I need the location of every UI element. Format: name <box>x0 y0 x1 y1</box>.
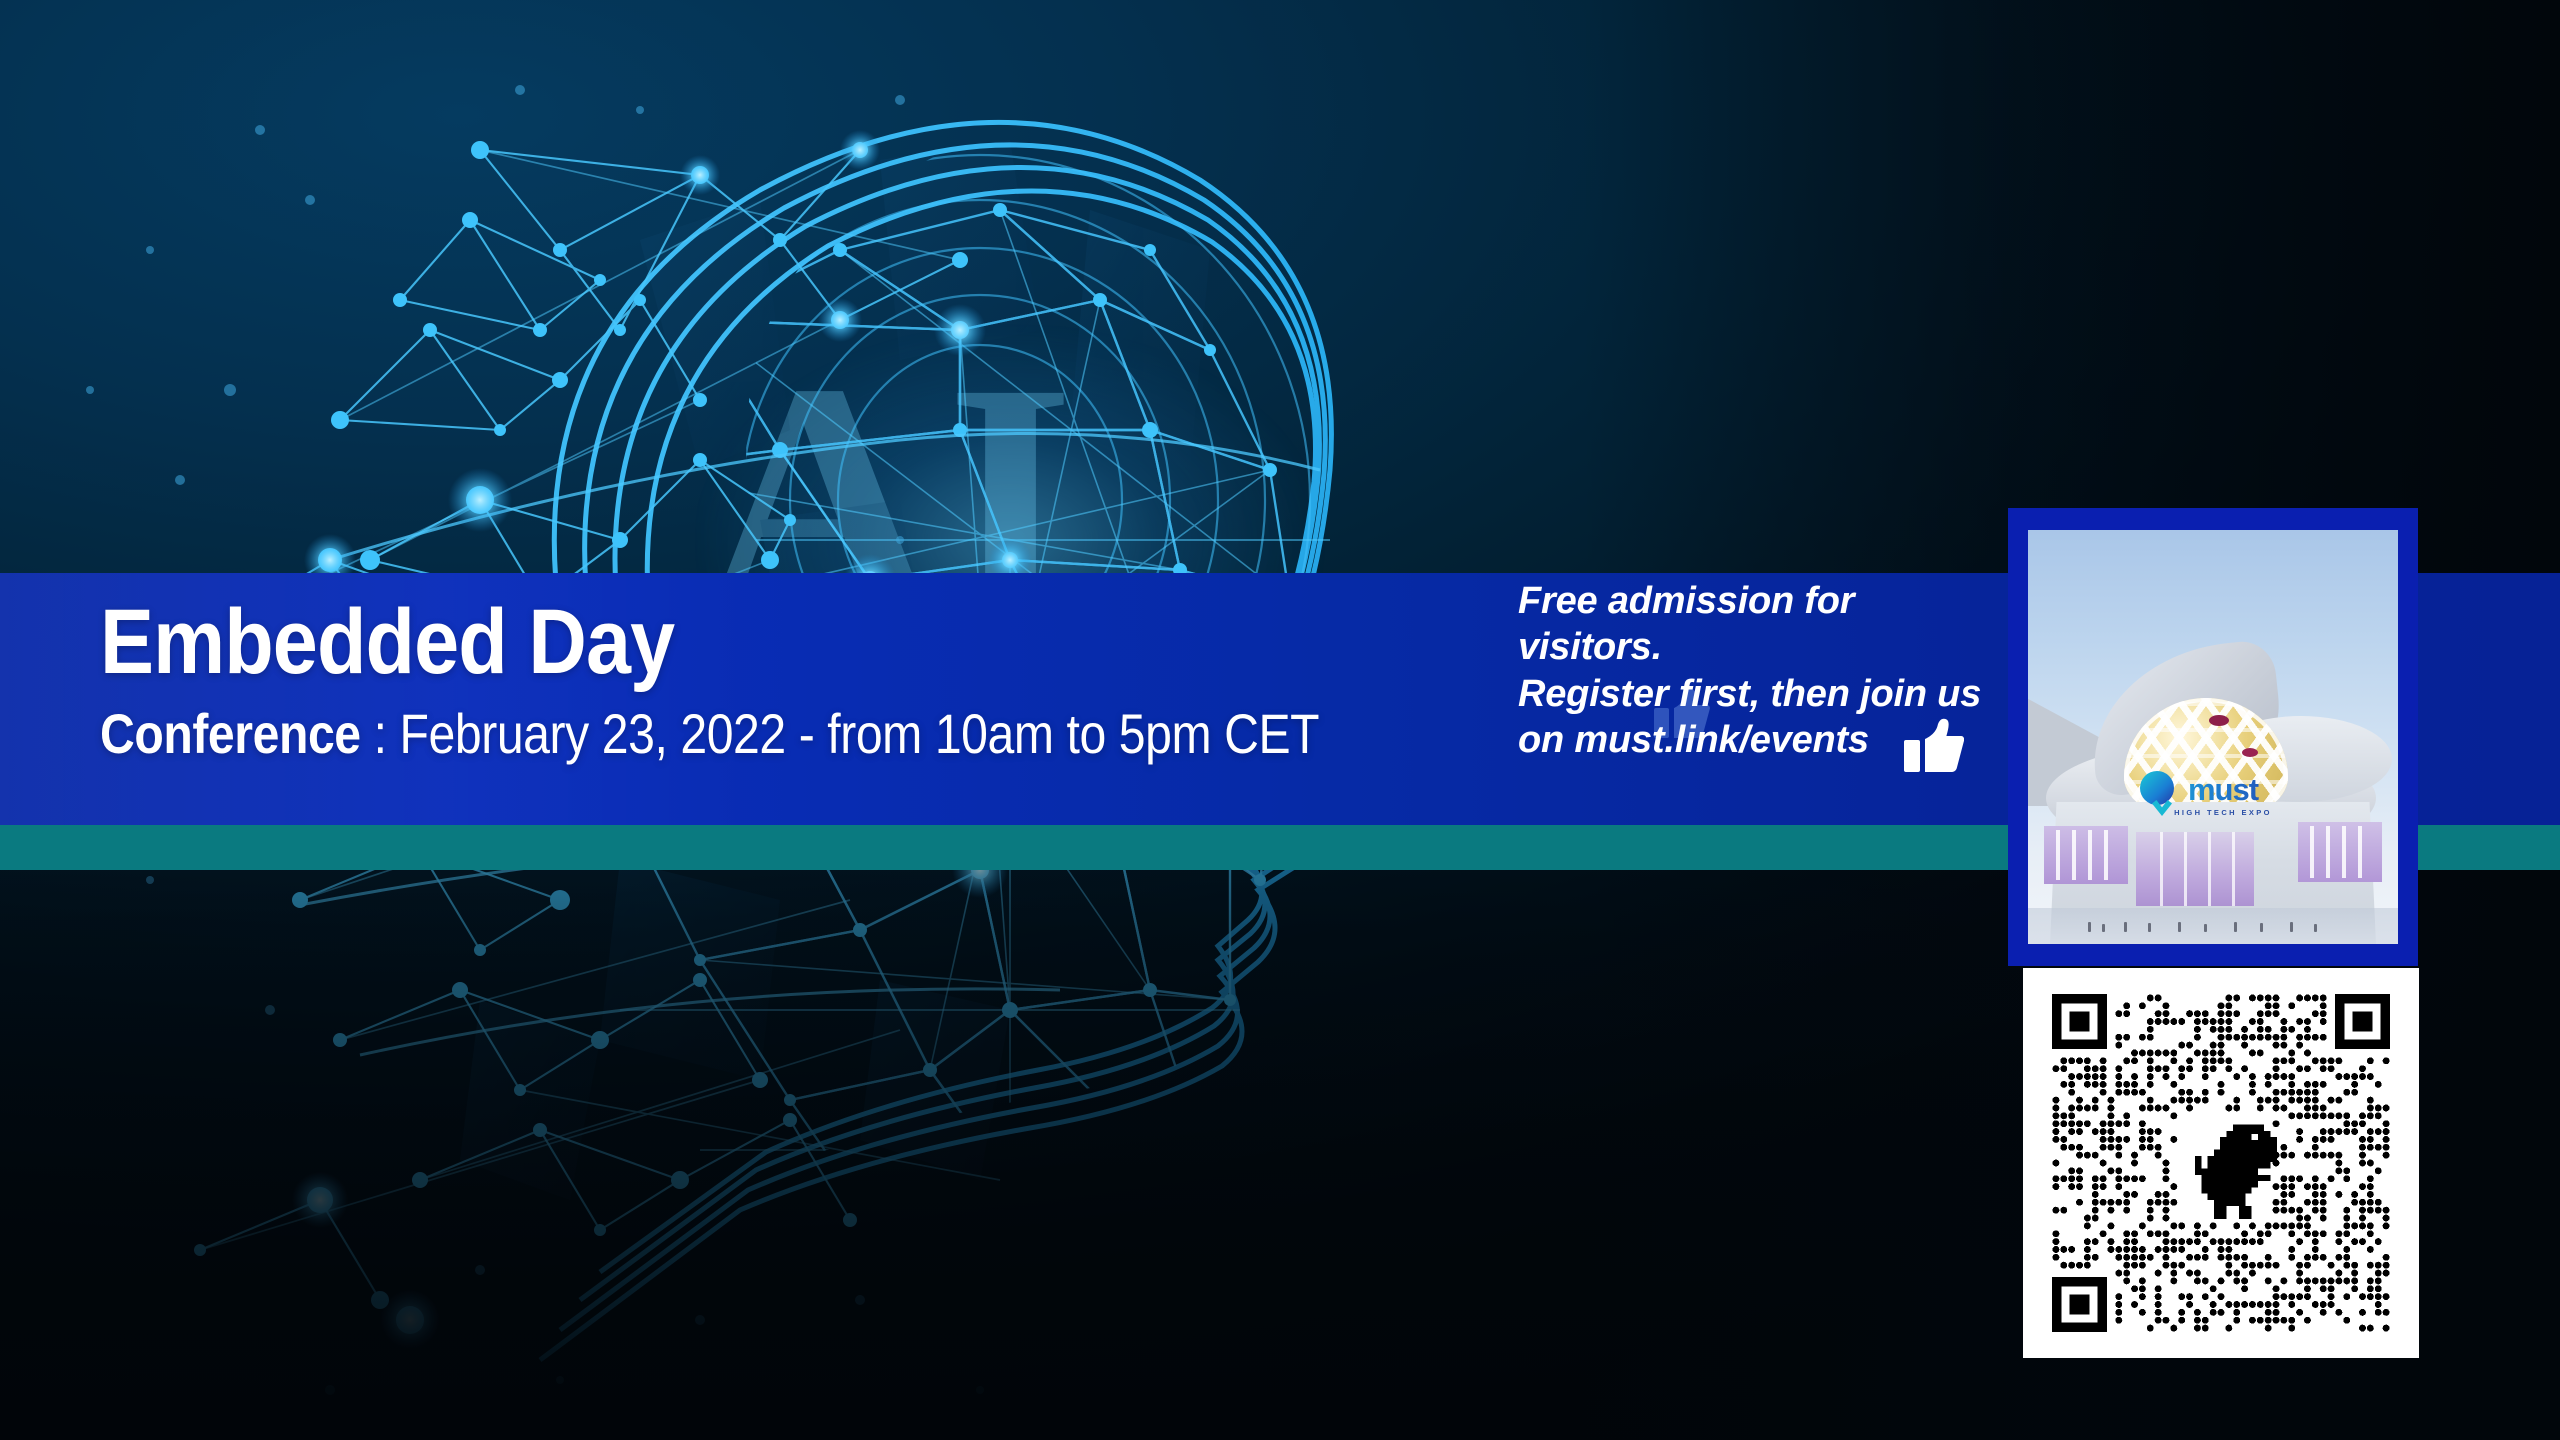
building-visitors <box>2028 904 2398 932</box>
thumbs-up-icon <box>1904 718 1964 774</box>
promo-banner: AI <box>0 0 2560 1440</box>
headline-block: Embedded Day Conference : February 23, 2… <box>100 595 1430 766</box>
promo-line-2: visitors. <box>1518 624 1988 670</box>
must-logo: must HIGH TECH EXPO <box>2138 774 2308 822</box>
expo-photo-frame: must HIGH TECH EXPO <box>2008 508 2418 966</box>
qr-code[interactable] <box>2049 994 2393 1332</box>
conference-subtitle: Conference : February 23, 2022 - from 10… <box>100 701 1244 766</box>
conference-date: : February 23, 2022 - from 10am to 5pm C… <box>361 702 1319 765</box>
conference-label: Conference <box>100 702 361 765</box>
must-logo-mark <box>2140 771 2174 805</box>
dome-accent-2 <box>2242 748 2258 757</box>
building-glass-left <box>2044 826 2128 884</box>
qr-code-card[interactable] <box>2023 968 2419 1358</box>
building-glass-right <box>2298 822 2382 882</box>
building-entrance <box>2136 832 2254 906</box>
page-title: Embedded Day <box>100 595 1270 691</box>
dinosaur-icon <box>2195 1124 2277 1218</box>
promo-line-1: Free admission for <box>1518 578 1988 624</box>
promo-text-block: Free admission for visitors. Register fi… <box>1518 578 1988 763</box>
promo-line-3: Register first, then join us <box>1518 671 1988 717</box>
expo-building-photo: must HIGH TECH EXPO <box>2028 530 2398 944</box>
